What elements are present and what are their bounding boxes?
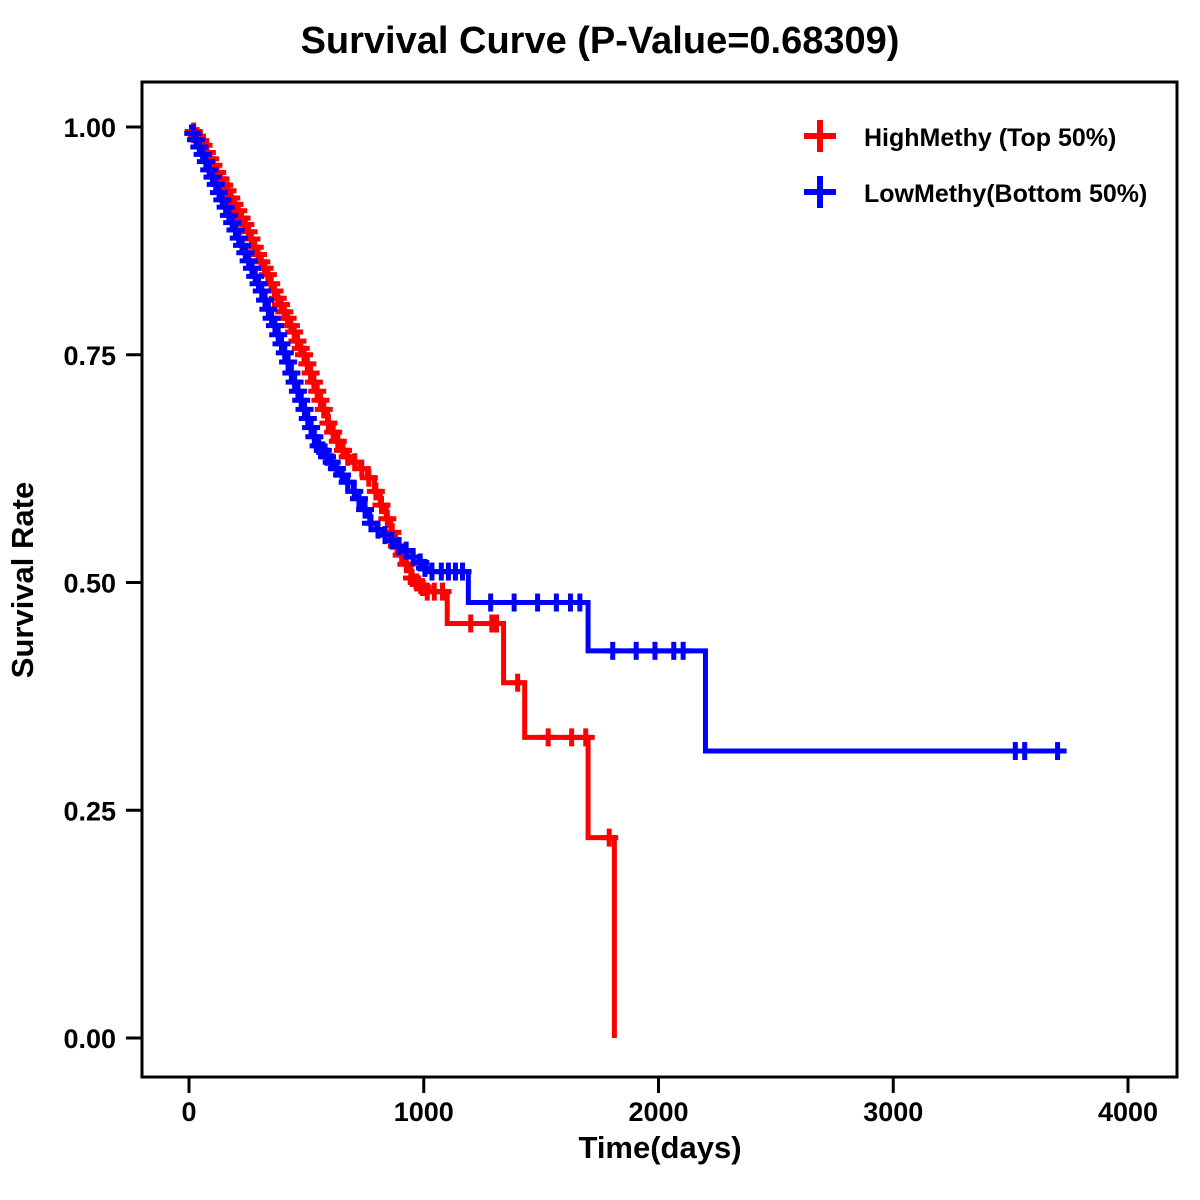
legend-item-0[interactable]: HighMethy (Top 50%): [804, 120, 1116, 152]
y-tick-label: 0.50: [63, 569, 116, 599]
censor-plus-marker: [462, 614, 480, 632]
y-tick-label: 0.25: [63, 796, 116, 826]
x-tick-label: 1000: [394, 1097, 454, 1127]
censor-plus-marker: [539, 728, 557, 746]
censor-plus-marker: [604, 642, 622, 660]
censor-plus-marker: [276, 344, 294, 362]
censor-plus-marker: [646, 642, 664, 660]
y-axis-ticks: 0.000.250.500.751.00: [63, 113, 142, 1054]
legend-label: LowMethy(Bottom 50%): [864, 180, 1147, 208]
censor-plus-marker: [272, 335, 290, 353]
y-tick-label: 1.00: [63, 113, 116, 143]
censor-plus-marker: [256, 291, 274, 309]
censor-plus-marker: [282, 364, 300, 382]
censor-plus-marker: [289, 382, 307, 400]
legend-plus-marker-icon: [804, 120, 836, 152]
censor-plus-marker: [292, 391, 310, 409]
censor-plus-marker: [305, 373, 323, 391]
survival-curves: [189, 127, 1058, 1038]
censor-plus-marker: [302, 419, 320, 437]
plot-frame: [142, 82, 1177, 1077]
censor-plus-marker: [299, 410, 317, 428]
y-tick-label: 0.75: [63, 341, 116, 371]
y-tick-label: 0.00: [63, 1024, 116, 1054]
x-axis-ticks: 01000200030004000: [181, 1077, 1158, 1127]
censor-plus-marker: [1016, 742, 1034, 760]
censor-plus-marker: [529, 594, 547, 612]
y-axis-label: Survival Rate: [5, 482, 40, 678]
x-tick-label: 0: [181, 1097, 196, 1127]
x-tick-label: 2000: [628, 1097, 688, 1127]
censor-plus-marker: [482, 594, 500, 612]
censor-plus-marker: [286, 373, 304, 391]
survival-plot-svg: Survival Curve (P-Value=0.68309) 0100020…: [0, 0, 1200, 1200]
survival-curve-figure: Survival Curve (P-Value=0.68309) 0100020…: [0, 0, 1200, 1200]
chart-title: Survival Curve (P-Value=0.68309): [301, 20, 900, 62]
x-tick-label: 4000: [1098, 1097, 1158, 1127]
censor-plus-marker: [298, 355, 316, 373]
x-tick-label: 3000: [863, 1097, 923, 1127]
censor-plus-marker: [505, 594, 523, 612]
censor-plus-marker: [1049, 742, 1067, 760]
legend-item-1[interactable]: LowMethy(Bottom 50%): [804, 176, 1147, 208]
censor-plus-marker: [308, 382, 326, 400]
x-axis-label: Time(days): [578, 1130, 741, 1165]
censor-plus-marker: [295, 400, 313, 418]
censor-plus-marker: [674, 642, 692, 660]
censor-plus-marker: [311, 391, 329, 409]
legend-label: HighMethy (Top 50%): [864, 124, 1116, 152]
chart-legend: HighMethy (Top 50%)LowMethy(Bottom 50%): [804, 120, 1147, 208]
legend-plus-marker-icon: [804, 176, 836, 208]
censor-plus-marker: [302, 364, 320, 382]
censor-plus-marker: [269, 326, 287, 344]
censor-plus-marker: [577, 728, 595, 746]
censor-plus-marker: [279, 353, 297, 371]
censor-plus-marker: [627, 642, 645, 660]
censoring-marks: [184, 123, 1066, 847]
